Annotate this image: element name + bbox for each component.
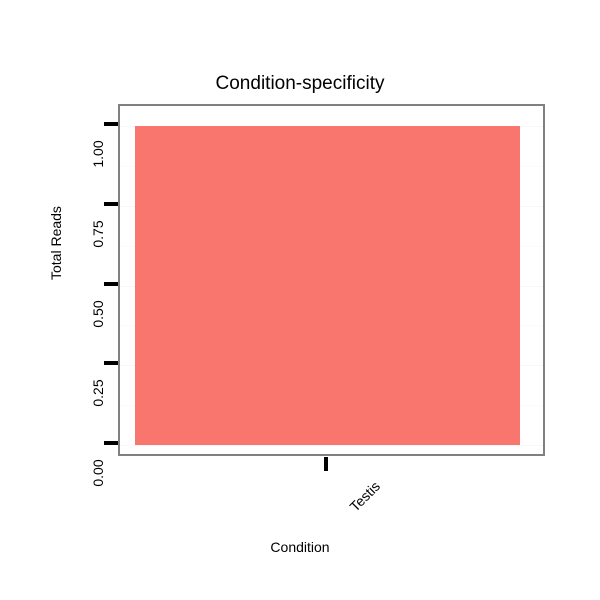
x-tick-label: Testis bbox=[346, 478, 383, 515]
y-tick-mark bbox=[104, 122, 118, 126]
y-tick-mark bbox=[104, 202, 118, 206]
y-tick-label: 1.00 bbox=[90, 124, 106, 184]
y-tick-label: 0.00 bbox=[90, 443, 106, 503]
plot-panel bbox=[118, 104, 545, 456]
gridline-major bbox=[120, 445, 543, 446]
y-tick-mark bbox=[104, 441, 118, 445]
y-tick-label: 0.25 bbox=[90, 363, 106, 423]
x-tick-mark bbox=[324, 457, 328, 471]
y-tick-label: 0.50 bbox=[90, 284, 106, 344]
y-tick-mark bbox=[104, 361, 118, 365]
y-axis-title: Total Reads bbox=[48, 206, 64, 280]
chart-title: Condition-specificity bbox=[0, 73, 600, 95]
x-axis-title: Condition bbox=[0, 539, 600, 555]
bar-testis[interactable] bbox=[135, 126, 520, 445]
chart-figure: Condition-specificity Total Reads 0.000.… bbox=[0, 0, 600, 600]
y-tick-mark bbox=[104, 282, 118, 286]
y-tick-label: 0.75 bbox=[90, 204, 106, 264]
